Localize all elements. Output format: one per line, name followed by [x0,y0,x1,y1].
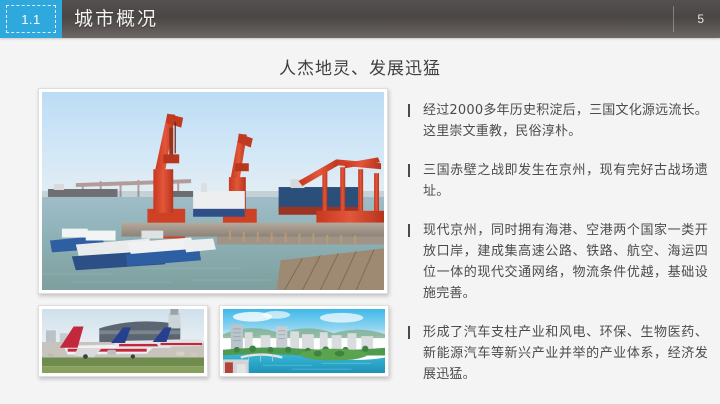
bullet-text: 形成了汽车支柱产业和风电、环保、生物医药、新能源汽车等新兴产业并举的产业体系，经… [423,322,708,385]
page-number: 5 [697,0,704,38]
section-number-badge: 1.1 [0,0,62,38]
bullet-marker-icon [408,326,410,339]
slide-header-bar: 1.1 城市概况 5 [0,0,720,38]
city-river-photo-inner [223,309,385,373]
page-number-divider [673,6,674,32]
bullet-list: 经过2000多年历史积淀后，三国文化源远流长。这里崇文重教，民俗淳朴。 三国赤壁… [408,100,708,403]
section-number-label: 1.1 [6,5,56,33]
airport-illustration [42,309,204,373]
harbor-port-photo [38,88,388,294]
airport-photo [38,305,208,377]
harbor-port-photo-inner [42,92,384,290]
bullet-marker-icon [408,164,410,177]
section-title: 城市概况 [74,0,158,38]
bullet-item: 三国赤壁之战即发生在京州，现有完好古战场遗址。 [408,160,708,202]
bullet-marker-icon [408,224,410,237]
bullet-item: 形成了汽车支柱产业和风电、环保、生物医药、新能源汽车等新兴产业并举的产业体系，经… [408,322,708,385]
harbor-port-illustration [42,92,384,290]
slide-title: 人杰地灵、发展迅猛 [0,54,720,79]
bullet-text: 三国赤壁之战即发生在京州，现有完好古战场遗址。 [423,160,708,202]
city-river-photo [219,305,389,377]
bullet-text: 经过2000多年历史积淀后，三国文化源远流长。这里崇文重教，民俗淳朴。 [423,100,708,142]
bullet-item: 经过2000多年历史积淀后，三国文化源远流长。这里崇文重教，民俗淳朴。 [408,100,708,142]
bullet-marker-icon [408,104,410,117]
slide-root: 1.1 城市概况 5 人杰地灵、发展迅猛 [0,0,720,404]
bullet-item: 现代京州，同时拥有海港、空港两个国家一类开放口岸，建成集高速公路、铁路、航空、海… [408,220,708,304]
bullet-text: 现代京州，同时拥有海港、空港两个国家一类开放口岸，建成集高速公路、铁路、航空、海… [423,220,708,304]
city-river-illustration [223,309,385,373]
airport-photo-inner [42,309,204,373]
